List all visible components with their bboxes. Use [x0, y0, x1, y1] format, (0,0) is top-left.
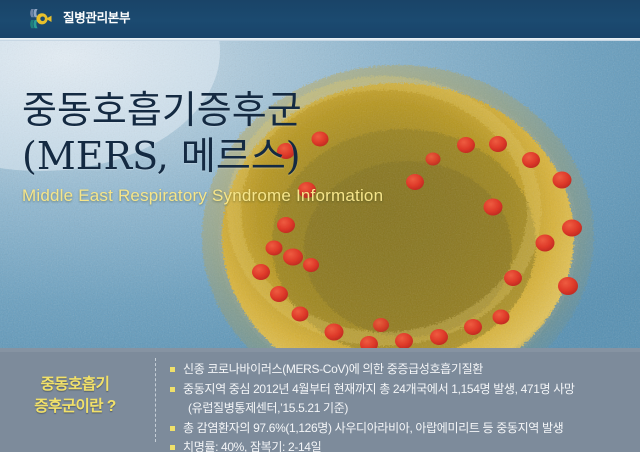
- list-item: 총 감염환자의 97.6%(1,126명) 사우디아라비아, 아랍에미리트 등 …: [170, 419, 632, 439]
- site-header: 질병관리본부: [0, 0, 640, 38]
- header-separator-rule: [0, 38, 640, 41]
- hero-subtitle: Middle East Respiratory Syndrome Informa…: [22, 186, 383, 206]
- kdca-logo-icon[interactable]: [26, 7, 56, 31]
- footer-heading-line-2: 증후군이란 ?: [0, 396, 150, 418]
- hero-title-block: 중동호흡기증후군 (MERS, 메르스) Middle East Respira…: [22, 88, 383, 206]
- footer-heading-line-1: 중동호흡기: [0, 374, 150, 396]
- footer-top-shade: [0, 348, 640, 352]
- list-item: 치명률: 40%, 잠복기: 2-14일: [170, 438, 632, 452]
- footer-bullet-list: 신종 코로나바이러스(MERS-CoV)에 의한 중증급성호흡기질환 중동지역 …: [170, 360, 632, 452]
- hero-title-line-1: 중동호흡기증후군: [22, 88, 383, 132]
- list-item: 신종 코로나바이러스(MERS-CoV)에 의한 중증급성호흡기질환: [170, 360, 632, 380]
- footer-heading: 중동호흡기 증후군이란 ?: [0, 374, 150, 418]
- definition-footer-panel: 중동호흡기 증후군이란 ? 신종 코로나바이러스(MERS-CoV)에 의한 중…: [0, 348, 640, 452]
- hero-title-line-2: (MERS, 메르스): [22, 132, 383, 180]
- mers-information-banner: 질병관리본부: [0, 0, 640, 452]
- header-organization-label: 질병관리본부: [63, 12, 130, 26]
- list-item: 중동지역 중심 2012년 4월부터 현재까지 총 24개국에서 1,154명 …: [170, 380, 632, 400]
- footer-vertical-divider: [155, 358, 156, 442]
- list-item: (유럽질병통제센터,’15.5.21 기준): [170, 399, 632, 419]
